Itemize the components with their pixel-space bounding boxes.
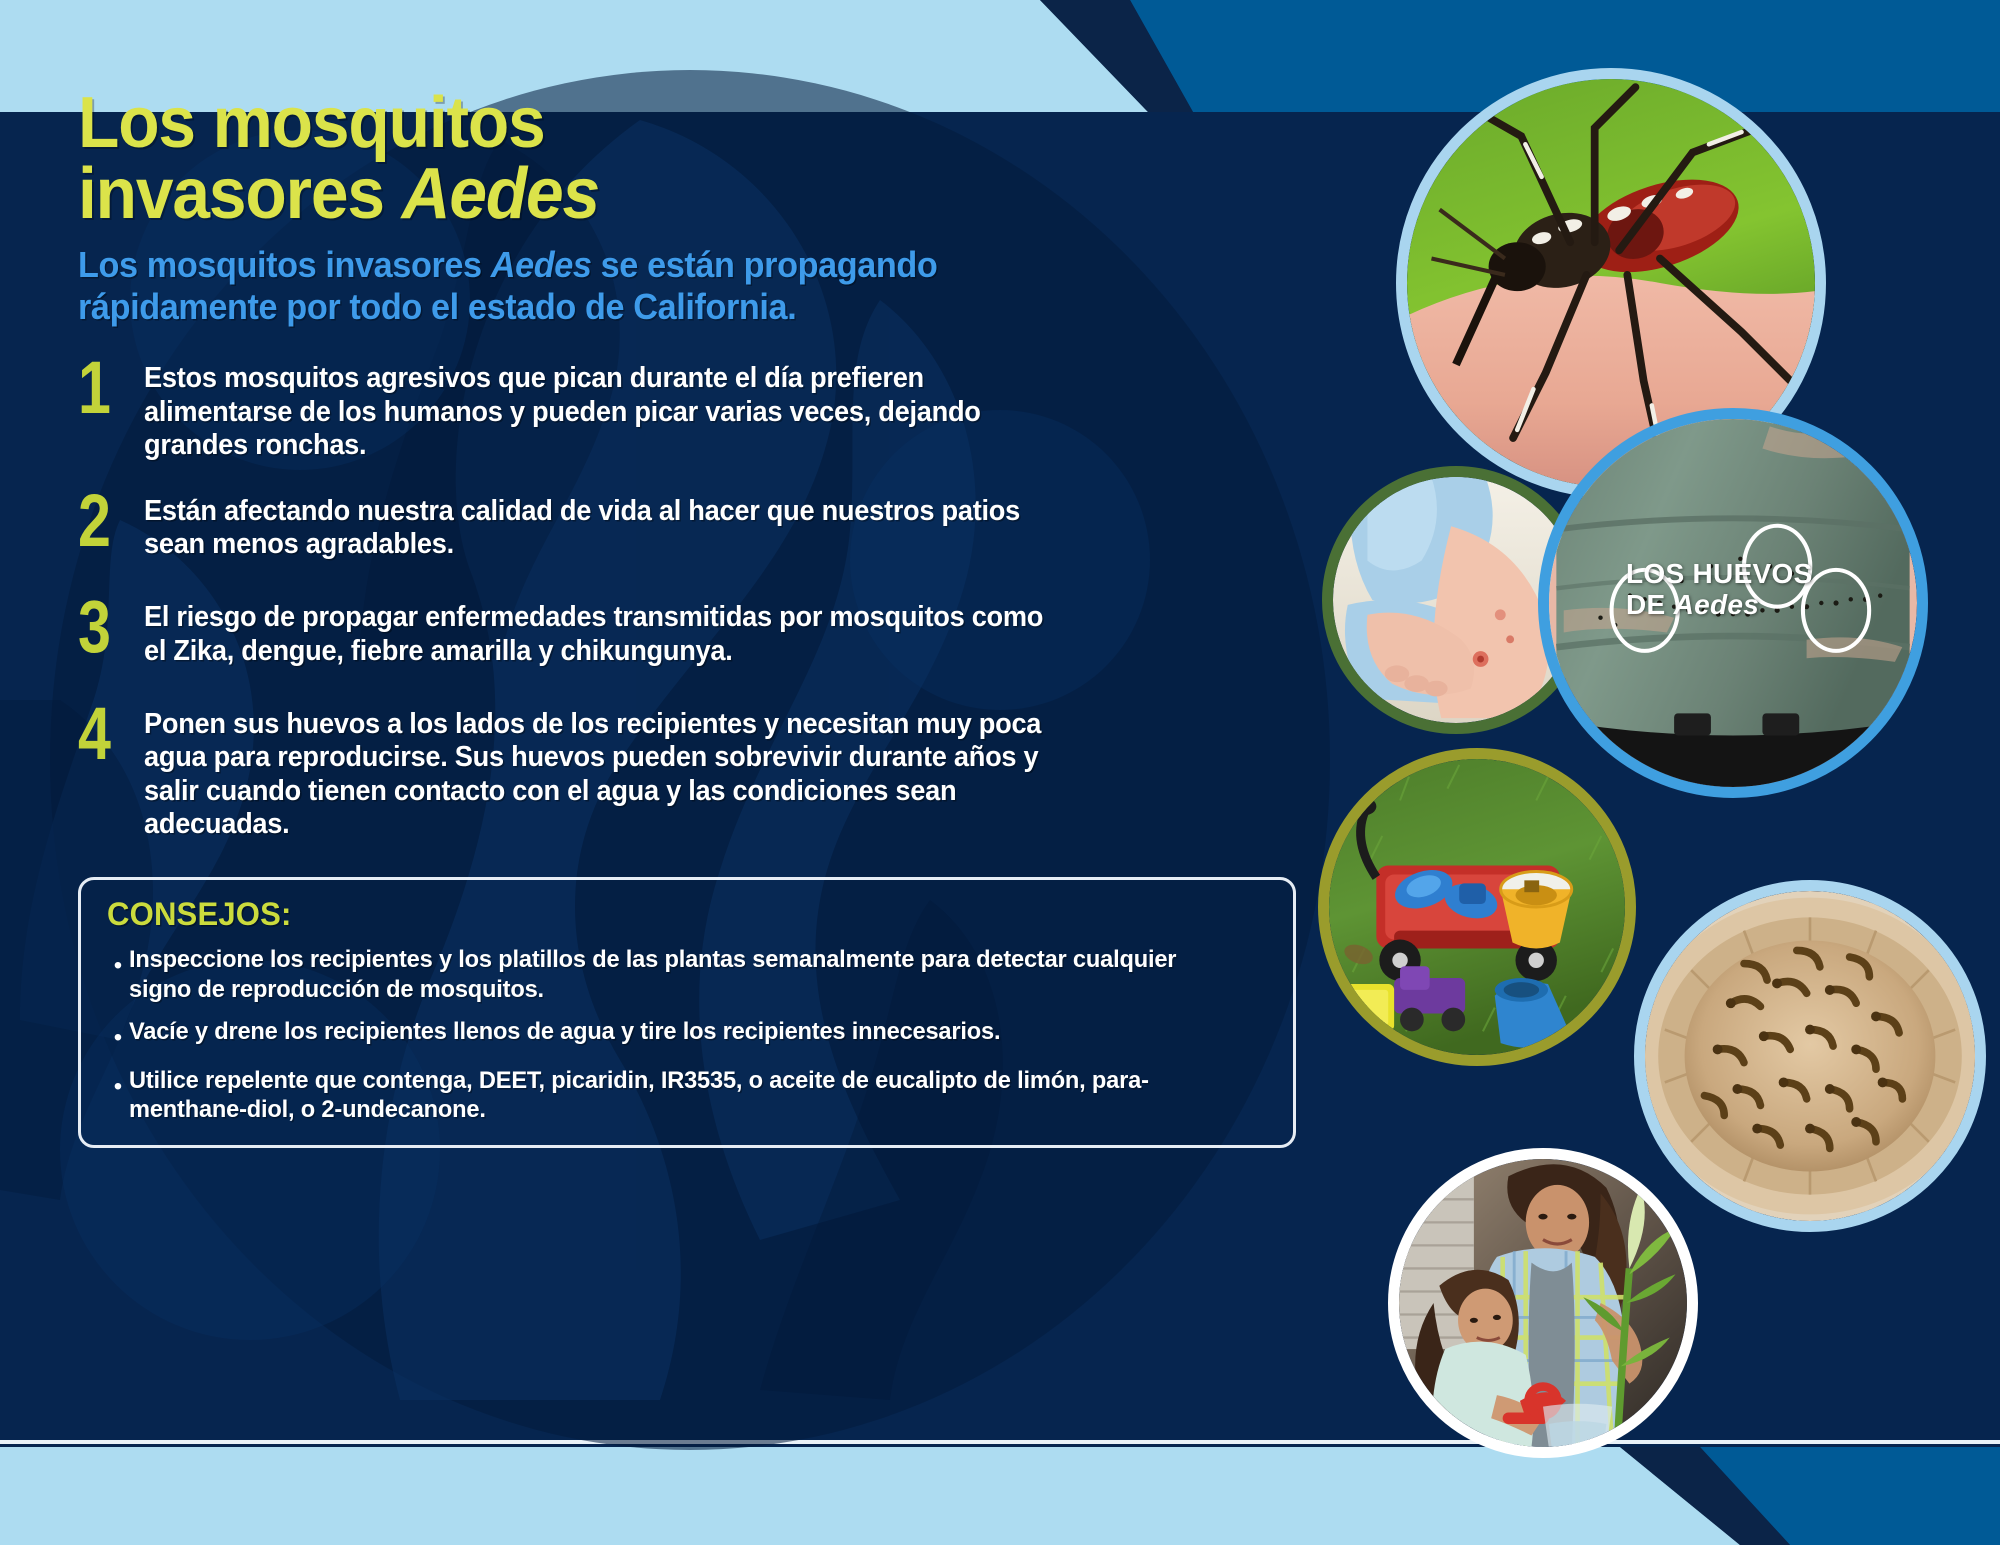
- tip-item: • Vacíe y drene los recipientes llenos d…: [107, 1017, 1271, 1053]
- photo-aedes-eggs-container[interactable]: [1538, 408, 1928, 798]
- list-item-number: 4: [78, 704, 131, 765]
- tip-item: • Utilice repelente que contenga, DEET, …: [107, 1066, 1271, 1125]
- numbered-fact-list: 1 Estos mosquitos agresivos que pican du…: [78, 362, 1088, 841]
- list-item-number: 2: [78, 491, 131, 552]
- photo-mosquito-larvae-image: [1645, 891, 1975, 1221]
- page-subtitle: Los mosquitos invasores Aedes se están p…: [78, 244, 1038, 329]
- list-item-text: Ponen sus huevos a los lados de los reci…: [144, 708, 1046, 841]
- photo-family-inspecting-plant-image: [1399, 1159, 1687, 1447]
- infographic-poster: LOS HUEVOS DE Aedes: [0, 0, 2000, 1545]
- list-item-number: 3: [78, 597, 131, 658]
- list-item-text: Estos mosquitos agresivos que pican dura…: [144, 362, 1046, 462]
- tip-text: Utilice repelente que contenga, DEET, pi…: [129, 1066, 1231, 1125]
- bullet-icon: •: [107, 1066, 129, 1102]
- tips-box: CONSEJOS: • Inspeccione los recipientes …: [78, 877, 1296, 1148]
- page-title: Los mosquitos invasores Aedes: [78, 88, 1027, 231]
- content-column: Los mosquitos invasores Aedes Los mosqui…: [78, 88, 1088, 1148]
- list-item-number: 1: [78, 358, 131, 419]
- title-line-2-species: Aedes: [402, 154, 600, 234]
- photo-aedes-eggs-image: [1549, 419, 1917, 787]
- list-item: 3 El riesgo de propagar enfermedades tra…: [78, 601, 1088, 668]
- tip-item: • Inspeccione los recipientes y los plat…: [107, 945, 1271, 1004]
- list-item: 1 Estos mosquitos agresivos que pican du…: [78, 362, 1088, 462]
- subtitle-part-1: Los mosquitos invasores: [78, 244, 491, 285]
- photo-family-inspecting-plant[interactable]: [1388, 1148, 1698, 1458]
- photo-mosquito-larvae[interactable]: [1634, 880, 1986, 1232]
- list-item: 4 Ponen sus huevos a los lados de los re…: [78, 708, 1088, 841]
- title-line-1: Los mosquitos: [78, 83, 545, 163]
- list-item: 2 Están afectando nuestra calidad de vid…: [78, 495, 1088, 562]
- tip-text: Vacíe y drene los recipientes llenos de …: [129, 1017, 1231, 1046]
- tip-text: Inspeccione los recipientes y los platil…: [129, 945, 1231, 1004]
- subtitle-species: Aedes: [491, 244, 592, 285]
- photo-yard-toys-image: [1329, 759, 1625, 1055]
- title-line-2-plain: invasores: [78, 154, 402, 234]
- bullet-icon: •: [107, 1017, 129, 1053]
- bullet-icon: •: [107, 945, 129, 981]
- list-item-text: Están afectando nuestra calidad de vida …: [144, 495, 1046, 562]
- list-item-text: El riesgo de propagar enfermedades trans…: [144, 601, 1046, 668]
- tips-title: CONSEJOS:: [107, 896, 1236, 933]
- photo-yard-toys-standing-water[interactable]: [1318, 748, 1636, 1066]
